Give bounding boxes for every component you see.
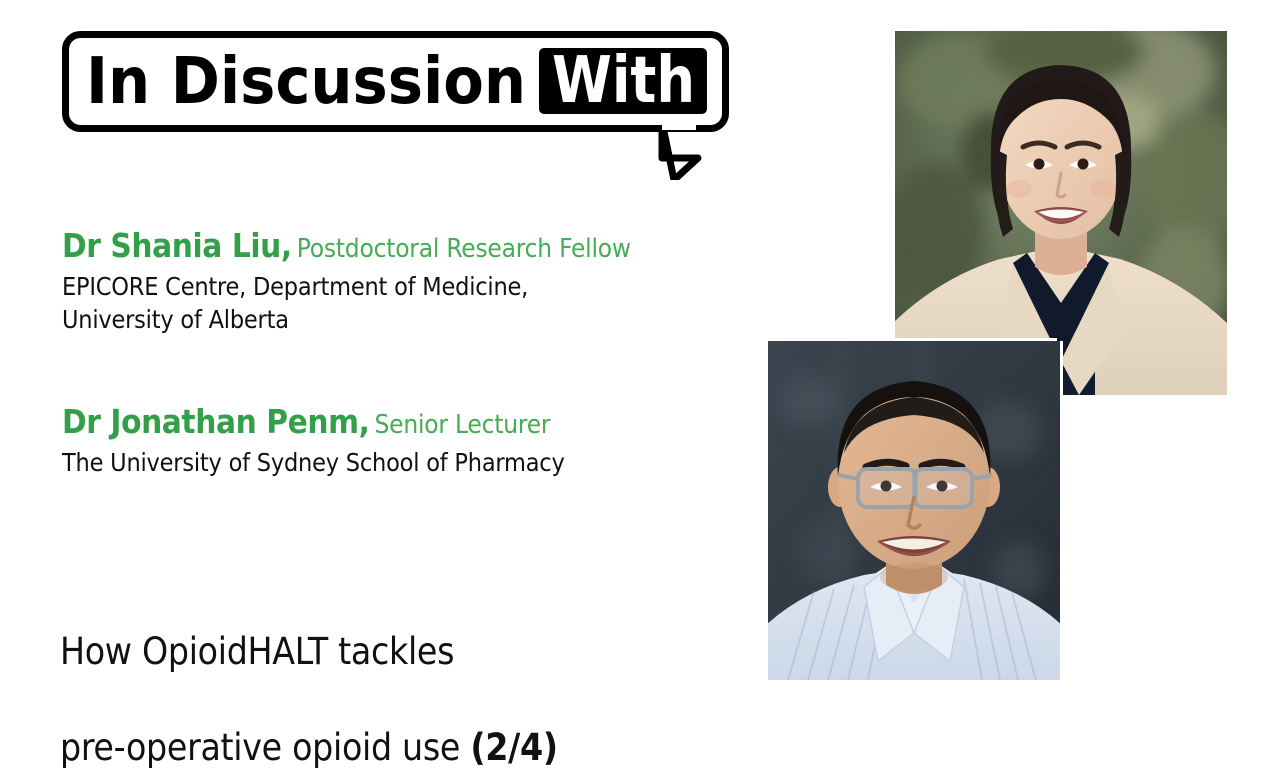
speaker-role: Senior Lecturer [375, 410, 551, 440]
tail-seam-mask [662, 118, 696, 130]
episode-title: How OpioidHALT tackles pre-operative opi… [60, 580, 558, 772]
episode-title-line-2: pre-operative opioid use [60, 726, 470, 769]
slide-canvas: In Discussion With Dr Shania Liu,Postdoc… [0, 0, 1280, 720]
speaker-name-line: Dr Jonathan Penm,Senior Lecturer [62, 404, 565, 440]
in-discussion-with-logo: In Discussion With [62, 30, 742, 180]
speaker-affiliation: EPICORE Centre, Department of Medicine, … [62, 270, 631, 337]
speaker-affiliation: The University of Sydney School of Pharm… [62, 446, 565, 479]
speaker-name-line: Dr Shania Liu,Postdoctoral Research Fell… [62, 228, 631, 264]
episode-counter: (2/4) [470, 726, 557, 769]
episode-title-line-1: How OpioidHALT tackles [60, 630, 454, 673]
portrait-jonathan-penm [768, 341, 1060, 680]
logo-text-with: With [552, 44, 695, 118]
speaker-name: Dr Shania Liu, [62, 226, 292, 265]
speaker-block-shania-liu: Dr Shania Liu,Postdoctoral Research Fell… [62, 228, 631, 336]
speaker-block-jonathan-penm: Dr Jonathan Penm,Senior Lecturer The Uni… [62, 404, 565, 479]
speaker-role: Postdoctoral Research Fellow [297, 234, 631, 264]
logo-text-in-discussion: In Discussion [86, 45, 526, 119]
speaker-name: Dr Jonathan Penm, [62, 402, 370, 441]
